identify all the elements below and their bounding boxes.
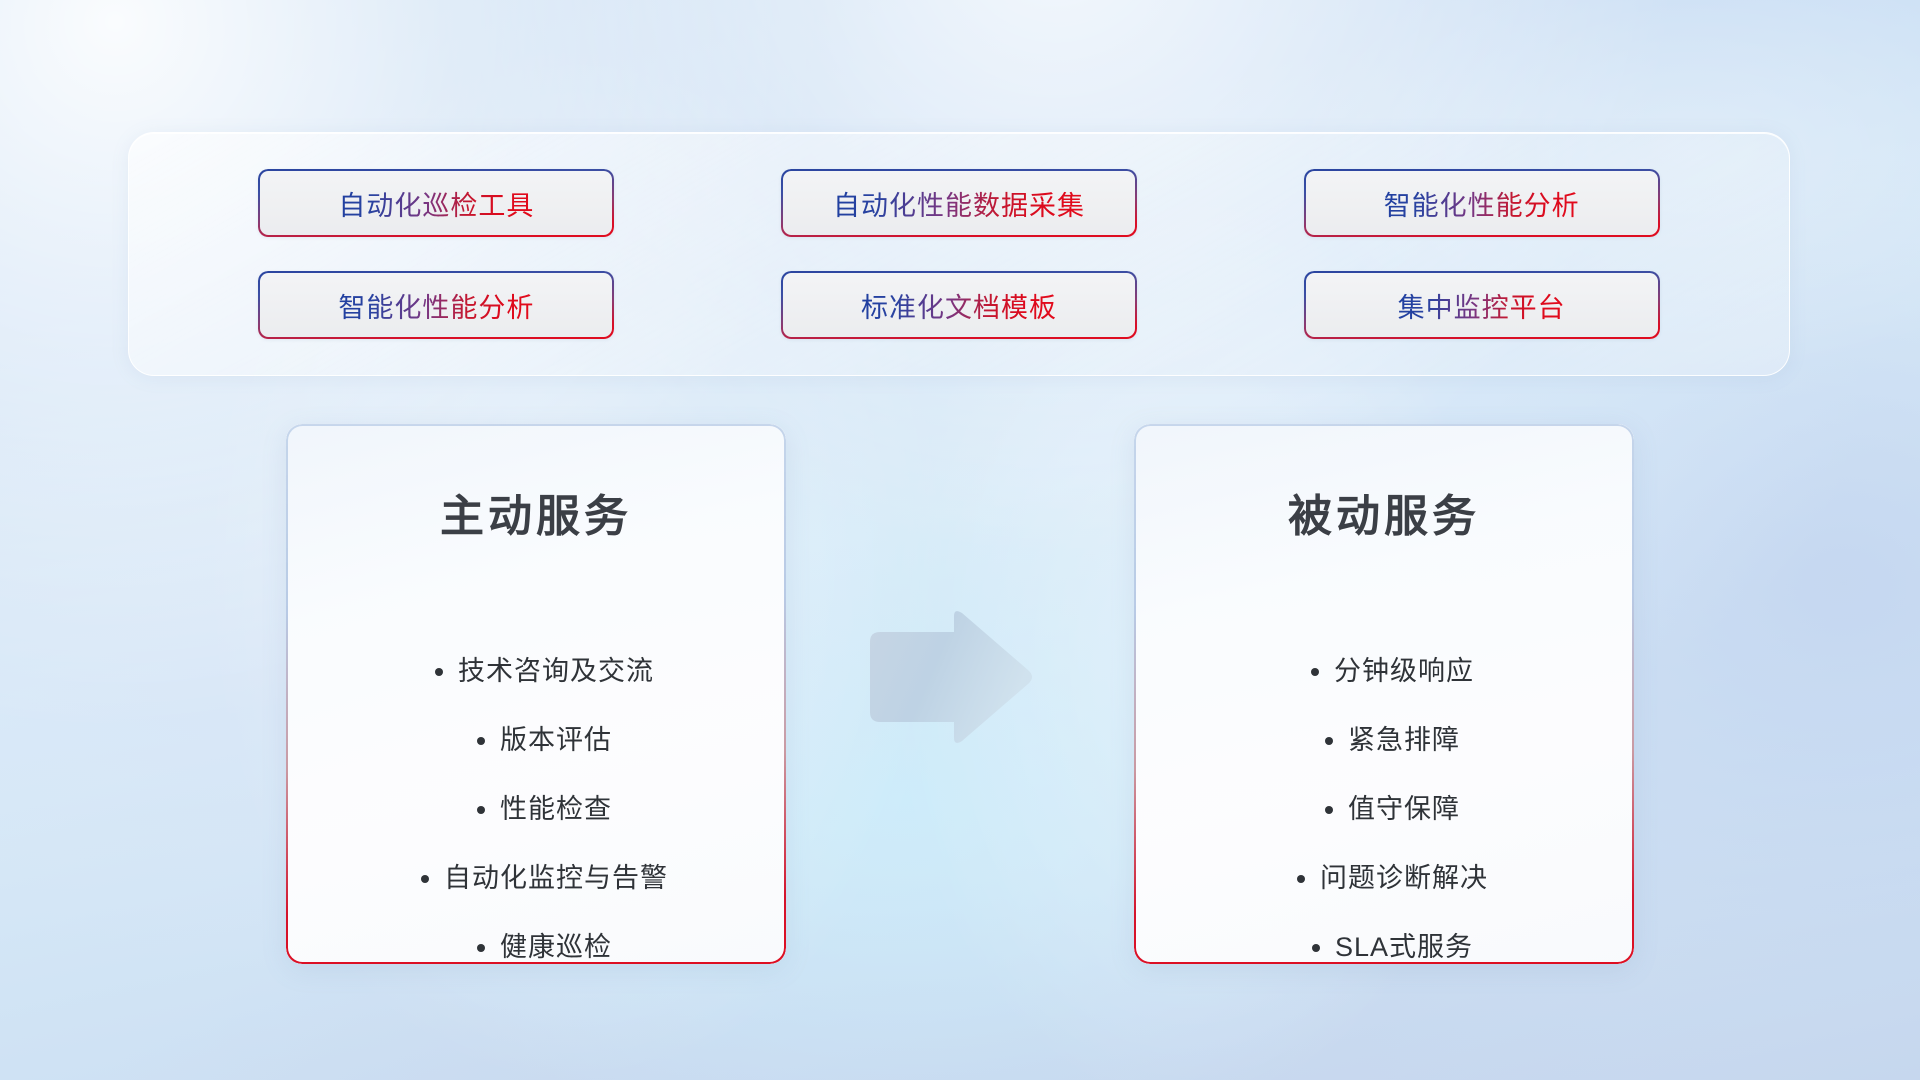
capability-tag-panel: 自动化巡检工具 自动化性能数据采集 智能化性能分析 智能化性能分析 标准化文档模… bbox=[128, 132, 1790, 376]
capability-tag[interactable]: 集中监控平台 bbox=[1304, 271, 1660, 339]
list-item[interactable]: 问题诊断解决 bbox=[1320, 844, 1488, 913]
list-item[interactable]: 技术咨询及交流 bbox=[458, 637, 654, 706]
service-card-passive-title: 被动服务 bbox=[1288, 495, 1480, 539]
service-card-passive-list: 分钟级响应 紧急排障 值守保障 问题诊断解决 SLA式服务 bbox=[1134, 637, 1634, 964]
list-item[interactable]: SLA式服务 bbox=[1335, 913, 1473, 964]
list-item[interactable]: 性能检查 bbox=[500, 775, 612, 844]
capability-tag-grid: 自动化巡检工具 自动化性能数据采集 智能化性能分析 智能化性能分析 标准化文档模… bbox=[129, 133, 1789, 375]
capability-tag-label: 自动化性能数据采集 bbox=[833, 184, 1085, 223]
service-card-passive-body: 被动服务 分钟级响应 紧急排障 值守保障 问题诊断解决 SLA式服务 bbox=[1134, 424, 1634, 964]
service-card-active-title: 主动服务 bbox=[440, 495, 632, 539]
service-card-passive: 被动服务 分钟级响应 紧急排障 值守保障 问题诊断解决 SLA式服务 bbox=[1134, 424, 1634, 964]
capability-tag[interactable]: 智能化性能分析 bbox=[1304, 169, 1660, 237]
list-item[interactable]: 分钟级响应 bbox=[1334, 637, 1474, 706]
list-item[interactable]: 版本评估 bbox=[500, 706, 612, 775]
capability-tag[interactable]: 自动化巡检工具 bbox=[258, 169, 614, 237]
list-item[interactable]: 紧急排障 bbox=[1348, 706, 1460, 775]
list-item[interactable]: 值守保障 bbox=[1348, 775, 1460, 844]
capability-tag-label: 标准化文档模板 bbox=[861, 286, 1057, 325]
service-card-active-list: 技术咨询及交流 版本评估 性能检查 自动化监控与告警 健康巡检 bbox=[286, 637, 786, 964]
capability-tag[interactable]: 标准化文档模板 bbox=[781, 271, 1137, 339]
diagram-stage: 自动化巡检工具 自动化性能数据采集 智能化性能分析 智能化性能分析 标准化文档模… bbox=[0, 0, 1920, 1080]
capability-tag[interactable]: 智能化性能分析 bbox=[258, 271, 614, 339]
right-arrow-icon bbox=[866, 608, 1034, 746]
service-card-active: 主动服务 技术咨询及交流 版本评估 性能检查 自动化监控与告警 健康巡检 bbox=[286, 424, 786, 964]
capability-tag-label: 自动化巡检工具 bbox=[338, 184, 534, 223]
capability-tag-label: 智能化性能分析 bbox=[338, 286, 534, 325]
list-item[interactable]: 自动化监控与告警 bbox=[444, 844, 668, 913]
capability-tag[interactable]: 自动化性能数据采集 bbox=[781, 169, 1137, 237]
list-item[interactable]: 健康巡检 bbox=[500, 913, 612, 964]
service-card-active-body: 主动服务 技术咨询及交流 版本评估 性能检查 自动化监控与告警 健康巡检 bbox=[286, 424, 786, 964]
capability-tag-label: 智能化性能分析 bbox=[1384, 184, 1580, 223]
capability-tag-label: 集中监控平台 bbox=[1398, 286, 1566, 325]
